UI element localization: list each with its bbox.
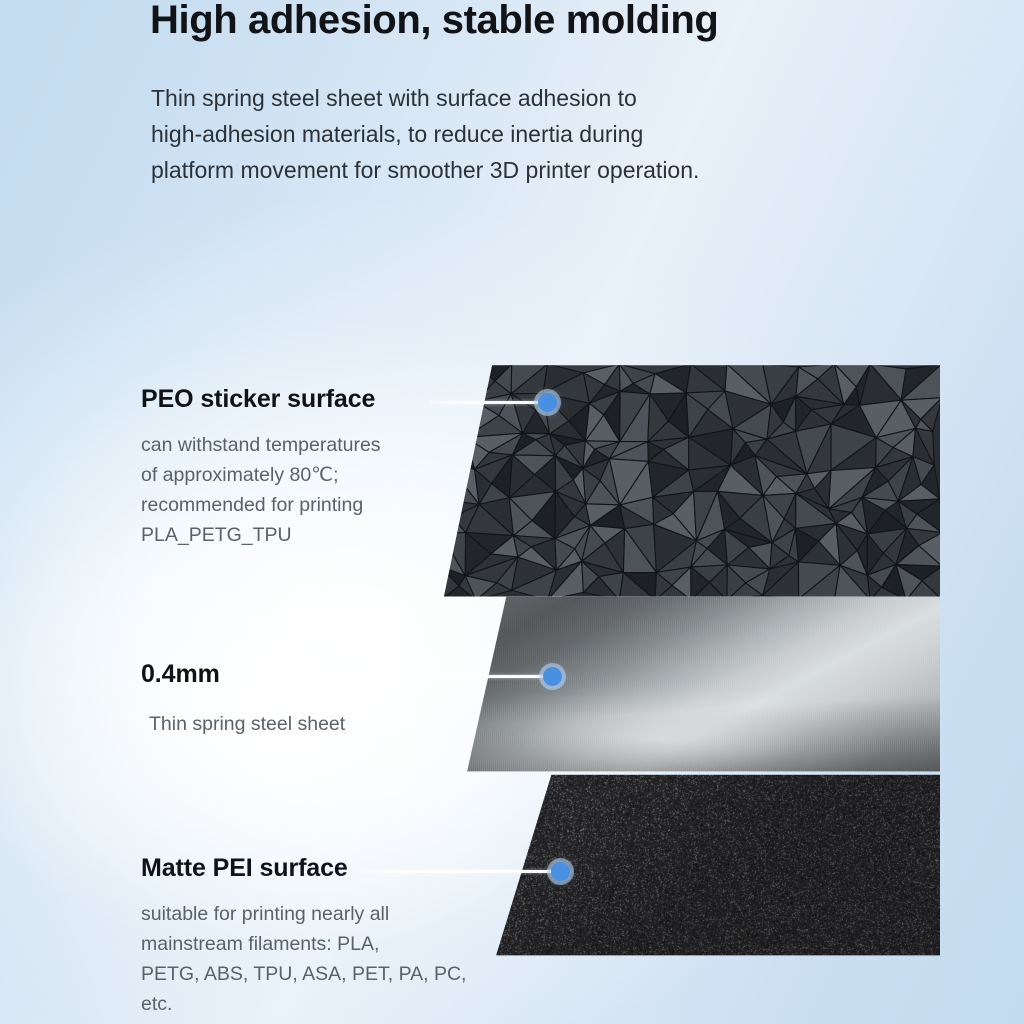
callout-dot-peo[interactable] (538, 393, 557, 412)
callout-pei-description: suitable for printing nearly all mainstr… (141, 899, 491, 1019)
matte-grain-texture (440, 772, 942, 960)
callout-dot-pei[interactable] (551, 862, 570, 881)
page-subtitle: Thin spring steel sheet with surface adh… (151, 80, 951, 188)
callout-pei-title: Matte PEI surface (141, 854, 491, 883)
callout-peo-desc-line-2: of approximately 80℃; (141, 460, 471, 490)
infographic-stage: High adhesion, stable molding Thin sprin… (0, 0, 1024, 1024)
subtitle-line-1: Thin spring steel sheet with surface adh… (151, 80, 951, 116)
callout-pei: Matte PEI surface suitable for printing … (141, 854, 491, 1019)
callout-pei-desc-line-1: suitable for printing nearly all (141, 899, 491, 929)
layer-peo-sticker-surface (440, 364, 942, 600)
callout-thickness-title: 0.4mm (141, 660, 481, 689)
callout-peo-desc-line-4: PLA_PETG_TPU (141, 520, 471, 550)
layer-spring-steel-sheet (440, 595, 942, 775)
callout-pei-desc-line-3: PETG, ABS, TPU, ASA, PET, PA, PC, etc. (141, 959, 491, 1019)
page-title: High adhesion, stable molding (150, 0, 718, 43)
layer-matte-pei-surface (440, 772, 942, 960)
steel-specular-highlight (440, 595, 942, 775)
callout-peo-desc-line-1: can withstand temperatures (141, 430, 471, 460)
callout-thickness: 0.4mm Thin spring steel sheet (141, 660, 481, 739)
callout-peo: PEO sticker surface can withstand temper… (141, 385, 471, 550)
callout-peo-desc-line-3: recommended for printing (141, 490, 471, 520)
callout-thickness-description: Thin spring steel sheet (149, 709, 481, 739)
subtitle-line-2: high-adhesion materials, to reduce inert… (151, 116, 951, 152)
callout-peo-title: PEO sticker surface (141, 385, 471, 414)
layer-pei-edge (440, 957, 942, 960)
callout-peo-description: can withstand temperatures of approximat… (141, 430, 471, 550)
subtitle-line-3: platform movement for smoother 3D printe… (151, 152, 951, 188)
low-poly-texture (440, 364, 942, 600)
callout-pei-desc-line-2: mainstream filaments: PLA, (141, 929, 491, 959)
layer-steel-edge (440, 772, 942, 775)
callout-thickness-desc-line-1: Thin spring steel sheet (149, 709, 481, 739)
callout-dot-thickness[interactable] (543, 667, 562, 686)
